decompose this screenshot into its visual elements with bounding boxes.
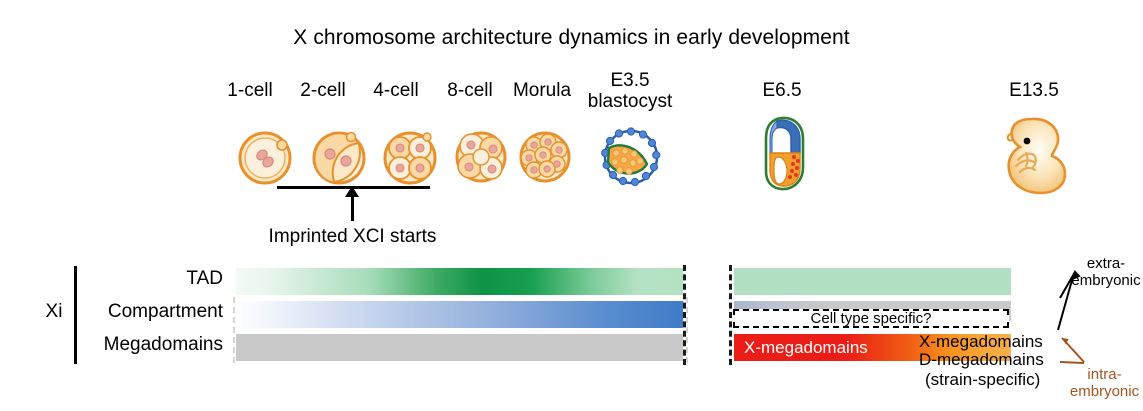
divider-dashed-preimplantation-end <box>683 265 686 365</box>
blastocyst-icon <box>600 126 662 188</box>
stage-label-blastocyst-line2: blastocyst <box>578 91 682 112</box>
page-title: X chromosome architecture dynamics in ea… <box>0 26 1143 50</box>
intra-embryonic-line1: intra- <box>1066 366 1143 383</box>
morula-icon <box>517 128 573 184</box>
megadomains-track-preimplantation <box>236 334 683 361</box>
fetus-icon <box>996 114 1074 196</box>
row-label-compartment: Compartment <box>28 301 223 323</box>
cell-type-specific-label: Cell type specific? <box>733 309 1009 328</box>
four-cell-embryo-icon <box>381 128 439 186</box>
compartment-track-preimplantation <box>236 301 683 328</box>
row-label-tad: TAD <box>28 268 223 290</box>
stage-label-4-cell: 4-cell <box>360 80 432 101</box>
divider-dashed-left-start <box>233 297 235 363</box>
stage-label-e6-5: E6.5 <box>730 80 834 101</box>
row-label-megadomains: Megadomains <box>28 334 223 356</box>
stage-label-8-cell: 8-cell <box>434 80 506 101</box>
divider-dashed-left-end <box>686 297 688 363</box>
extra-embryonic-line1: extra- <box>1069 255 1143 272</box>
tad-track-preimplantation <box>236 268 683 295</box>
imprinted-xci-arrow-head <box>345 186 359 197</box>
intra-embryonic-label: intra- embryonic <box>1066 366 1143 400</box>
two-cell-embryo-icon <box>310 128 368 186</box>
stage-label-2-cell: 2-cell <box>287 80 359 101</box>
stage-label-blastocyst-line1: E3.5 <box>578 70 682 91</box>
extra-embryonic-label: extra- embryonic <box>1069 255 1143 289</box>
stage-label-1-cell: 1-cell <box>214 80 286 101</box>
imprinted-xci-label: Imprinted XCI starts <box>215 226 490 248</box>
eight-cell-embryo-icon <box>453 128 509 184</box>
intra-embryonic-line2: embryonic <box>1066 383 1143 400</box>
zygote-icon <box>236 128 294 186</box>
stage-label-blastocyst: E3.5 blastocyst <box>578 70 682 112</box>
stage-label-e13-5: E13.5 <box>975 80 1093 101</box>
divider-dashed-postimplantation-start <box>729 265 732 365</box>
egg-cylinder-icon <box>757 113 813 193</box>
extra-embryonic-line2: embryonic <box>1069 272 1143 289</box>
stage-label-morula: Morula <box>500 80 584 101</box>
tad-track-postimplantation <box>734 268 1011 295</box>
x-megadomains-inbar-label: X-megadomains <box>744 338 868 358</box>
